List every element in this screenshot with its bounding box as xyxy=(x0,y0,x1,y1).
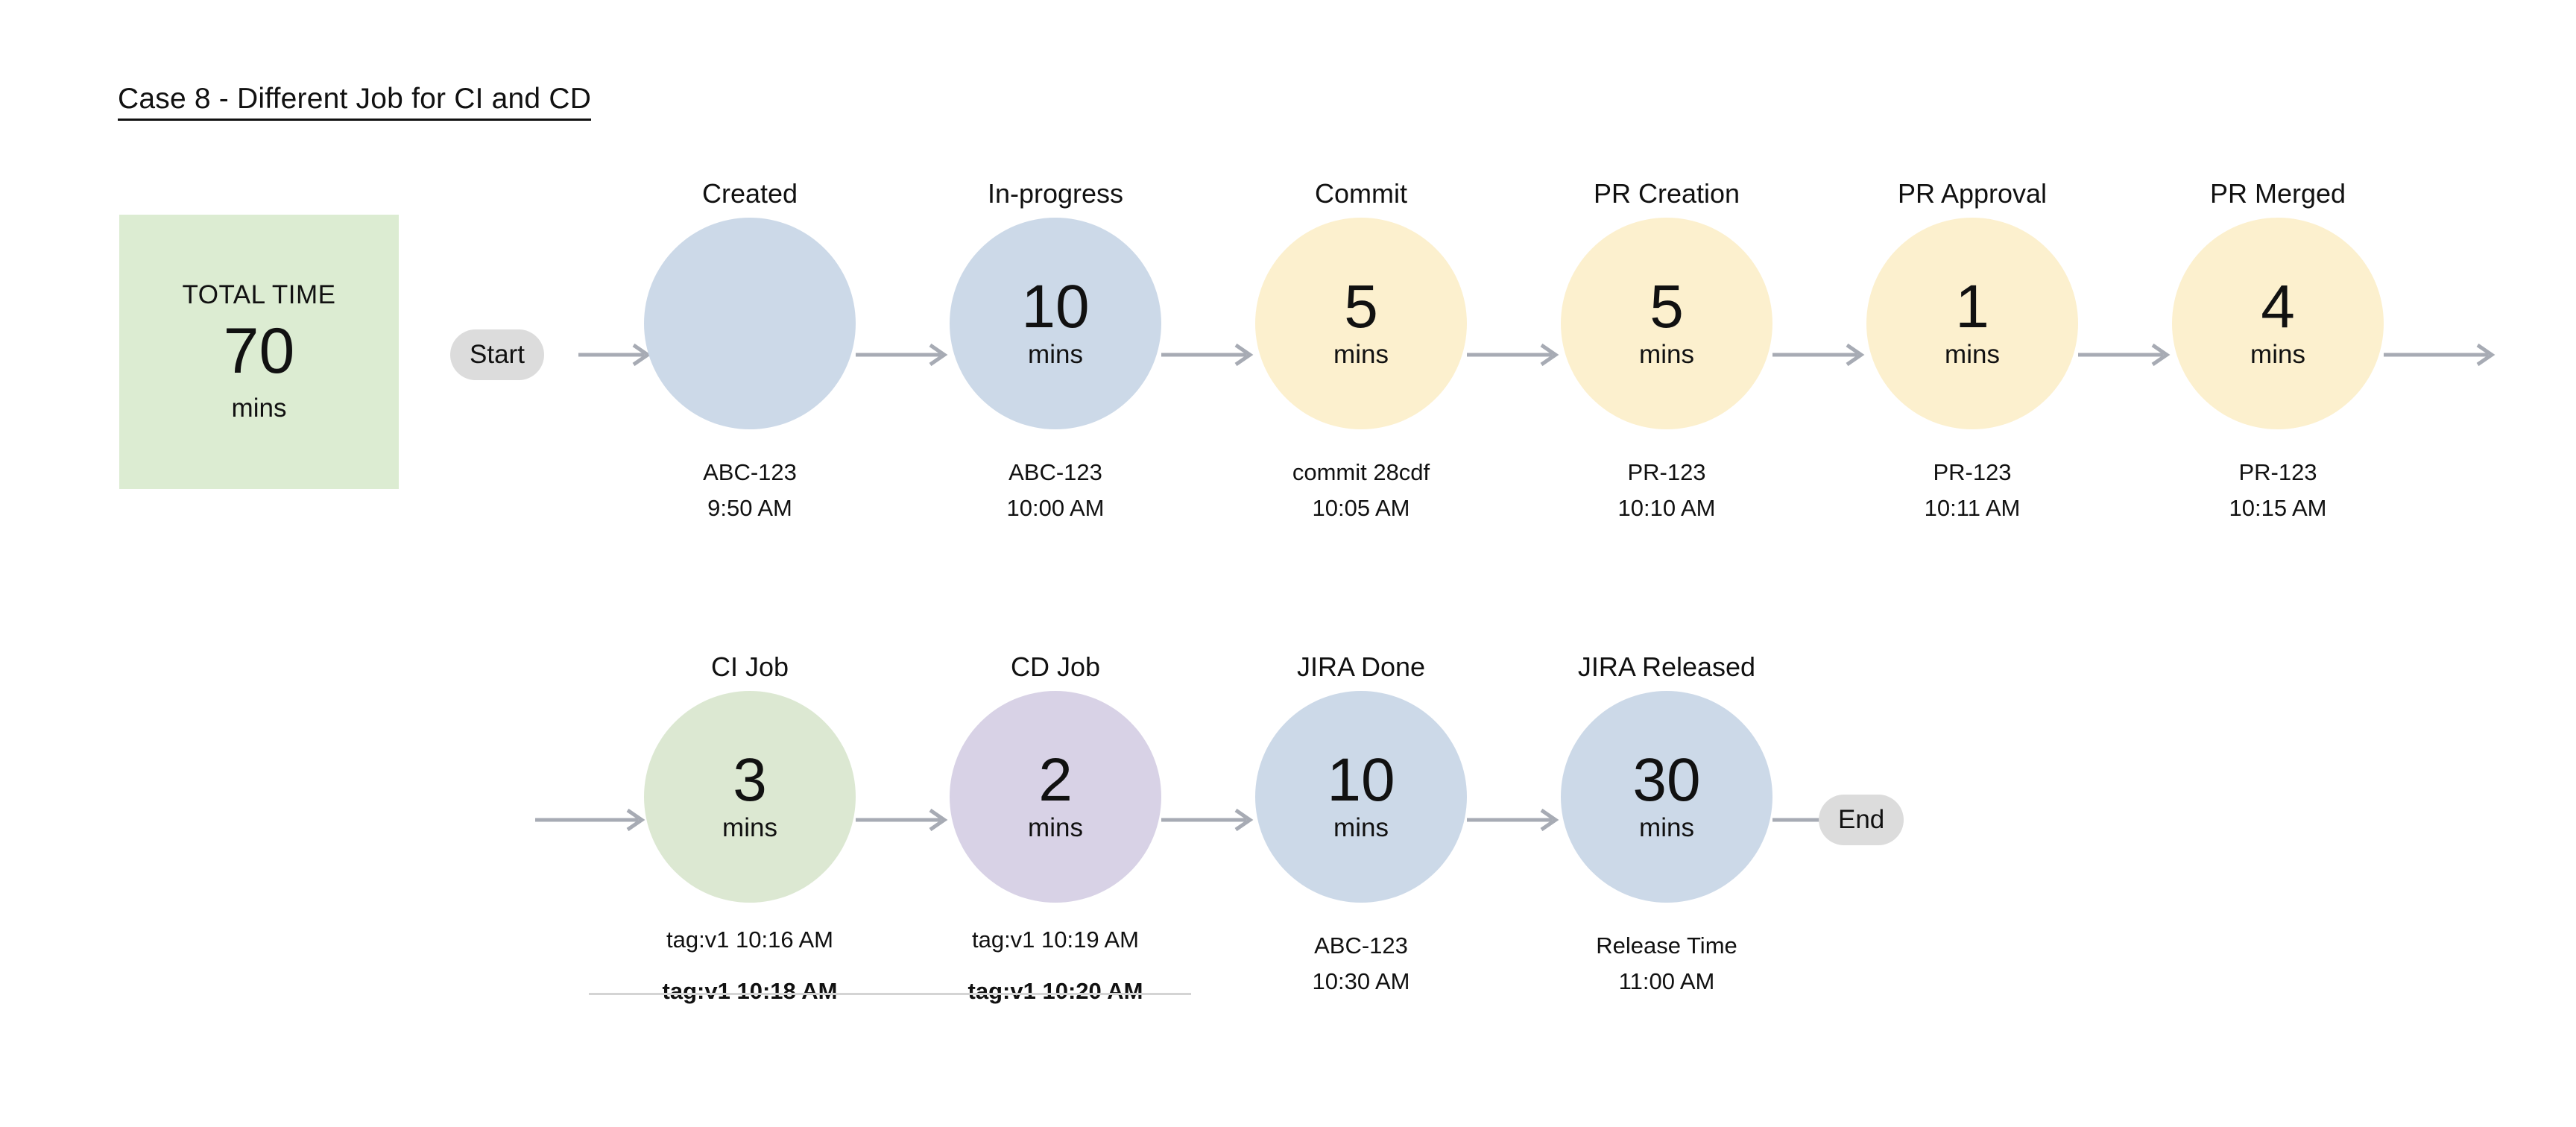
node-caption-line-2: 9:50 AM xyxy=(599,490,900,526)
node-unit: mins xyxy=(2250,341,2305,370)
node-caption-line-1: ABC-123 xyxy=(905,455,1206,490)
node-bubble: 1 mins xyxy=(1866,218,2078,429)
connector-jira-done-to-jira-released xyxy=(1467,805,1561,835)
node-value: 10 xyxy=(1327,751,1395,809)
node-caption: ABC-123 10:00 AM xyxy=(905,455,1206,526)
node-title: Created xyxy=(644,179,856,209)
node-title: PR Creation xyxy=(1561,179,1772,209)
node-caption: ABC-123 10:30 AM xyxy=(1210,928,1512,1000)
node-caption-line-1: PR-123 xyxy=(2127,455,2428,490)
node-caption: tag:v1 10:16 AM tag:v1 10:18 AM xyxy=(599,922,900,1009)
total-time-card: TOTAL TIME 70 mins xyxy=(119,215,399,489)
node-caption-line-1: ABC-123 xyxy=(1210,928,1512,964)
page-title: Case 8 - Different Job for CI and CD xyxy=(118,84,591,121)
connector-cd-to-jira-done xyxy=(1161,805,1255,835)
connector-commit-to-pr-creation xyxy=(1467,340,1561,370)
total-time-label: TOTAL TIME xyxy=(183,280,336,310)
node-unit: mins xyxy=(1333,341,1389,370)
connector-pr-approval-to-pr-merged xyxy=(2078,340,2172,370)
node-caption: PR-123 10:15 AM xyxy=(2127,455,2428,526)
node-bubble: 4 mins xyxy=(2172,218,2384,429)
node-title: CI Job xyxy=(644,652,856,682)
node-bubble: 3 mins xyxy=(644,691,856,903)
node-unit: mins xyxy=(1028,814,1083,843)
connector-created-to-inprogress xyxy=(856,340,950,370)
node-title: CD Job xyxy=(950,652,1161,682)
node-title: PR Approval xyxy=(1866,179,2078,209)
connector-row2-wrap-in xyxy=(535,805,647,835)
node-value: 3 xyxy=(733,751,767,809)
node-unit: mins xyxy=(1945,341,2000,370)
node-bubble xyxy=(644,218,856,429)
node-caption: PR-123 10:11 AM xyxy=(1822,455,2123,526)
node-bubble: 2 mins xyxy=(950,691,1161,903)
node-caption: Release Time 11:00 AM xyxy=(1516,928,1817,1000)
node-caption-line-2: 10:30 AM xyxy=(1210,964,1512,1000)
node-title: PR Merged xyxy=(2172,179,2384,209)
node-caption-line-2: 10:05 AM xyxy=(1210,490,1512,526)
node-bubble: 30 mins xyxy=(1561,691,1772,903)
node-value: 30 xyxy=(1632,751,1700,809)
node-caption-line-1: ABC-123 xyxy=(599,455,900,490)
node-value: 2 xyxy=(1038,751,1073,809)
connector-ci-to-cd xyxy=(856,805,950,835)
node-value: 10 xyxy=(1021,278,1089,336)
node-unit: mins xyxy=(1028,341,1083,370)
node-unit: mins xyxy=(1639,341,1694,370)
node-caption: tag:v1 10:19 AM tag:v1 10:20 AM xyxy=(905,922,1206,1009)
node-caption: PR-123 10:10 AM xyxy=(1516,455,1817,526)
node-bubble: 5 mins xyxy=(1255,218,1467,429)
node-bubble: 10 mins xyxy=(950,218,1161,429)
connector-start-to-created xyxy=(578,340,653,370)
node-caption-line-1: PR-123 xyxy=(1822,455,2123,490)
node-caption: ABC-123 9:50 AM xyxy=(599,455,900,526)
node-title: JIRA Released xyxy=(1561,652,1772,682)
connector-pr-creation-to-pr-approval xyxy=(1772,340,1866,370)
node-caption: commit 28cdf 10:05 AM xyxy=(1210,455,1512,526)
node-unit: mins xyxy=(1639,814,1694,843)
connector-inprogress-to-commit xyxy=(1161,340,1255,370)
diagram-canvas: Case 8 - Different Job for CI and CD TOT… xyxy=(0,0,2576,1127)
node-bubble: 5 mins xyxy=(1561,218,1772,429)
node-caption-line-2: tag:v1 10:20 AM xyxy=(905,973,1206,1009)
end-pill[interactable]: End xyxy=(1819,795,1904,845)
node-caption-line-1: tag:v1 10:16 AM xyxy=(599,922,900,958)
node-caption-line-2: 10:15 AM xyxy=(2127,490,2428,526)
jobs-caption-divider xyxy=(589,993,1191,995)
node-unit: mins xyxy=(1333,814,1389,843)
node-value: 5 xyxy=(1344,278,1378,336)
node-title: Commit xyxy=(1255,179,1467,209)
node-bubble: 10 mins xyxy=(1255,691,1467,903)
node-caption-line-1: Release Time xyxy=(1516,928,1817,964)
node-caption-line-1: PR-123 xyxy=(1516,455,1817,490)
node-caption-line-2: 11:00 AM xyxy=(1516,964,1817,1000)
node-caption-line-2: 10:11 AM xyxy=(1822,490,2123,526)
start-pill[interactable]: Start xyxy=(450,329,544,380)
node-caption-line-1: commit 28cdf xyxy=(1210,455,1512,490)
node-title: JIRA Done xyxy=(1255,652,1467,682)
node-caption-line-2: tag:v1 10:18 AM xyxy=(599,973,900,1009)
node-caption-line-2: 10:00 AM xyxy=(905,490,1206,526)
connector-row1-wrap-out xyxy=(2384,340,2503,370)
node-unit: mins xyxy=(722,814,777,843)
node-value: 4 xyxy=(2261,278,2295,336)
node-caption-line-2: 10:10 AM xyxy=(1516,490,1817,526)
node-value: 1 xyxy=(1955,278,1989,336)
total-time-unit: mins xyxy=(232,394,287,423)
node-caption-line-1: tag:v1 10:19 AM xyxy=(905,922,1206,958)
total-time-value: 70 xyxy=(224,318,295,385)
node-title: In-progress xyxy=(950,179,1161,209)
node-value: 5 xyxy=(1650,278,1684,336)
